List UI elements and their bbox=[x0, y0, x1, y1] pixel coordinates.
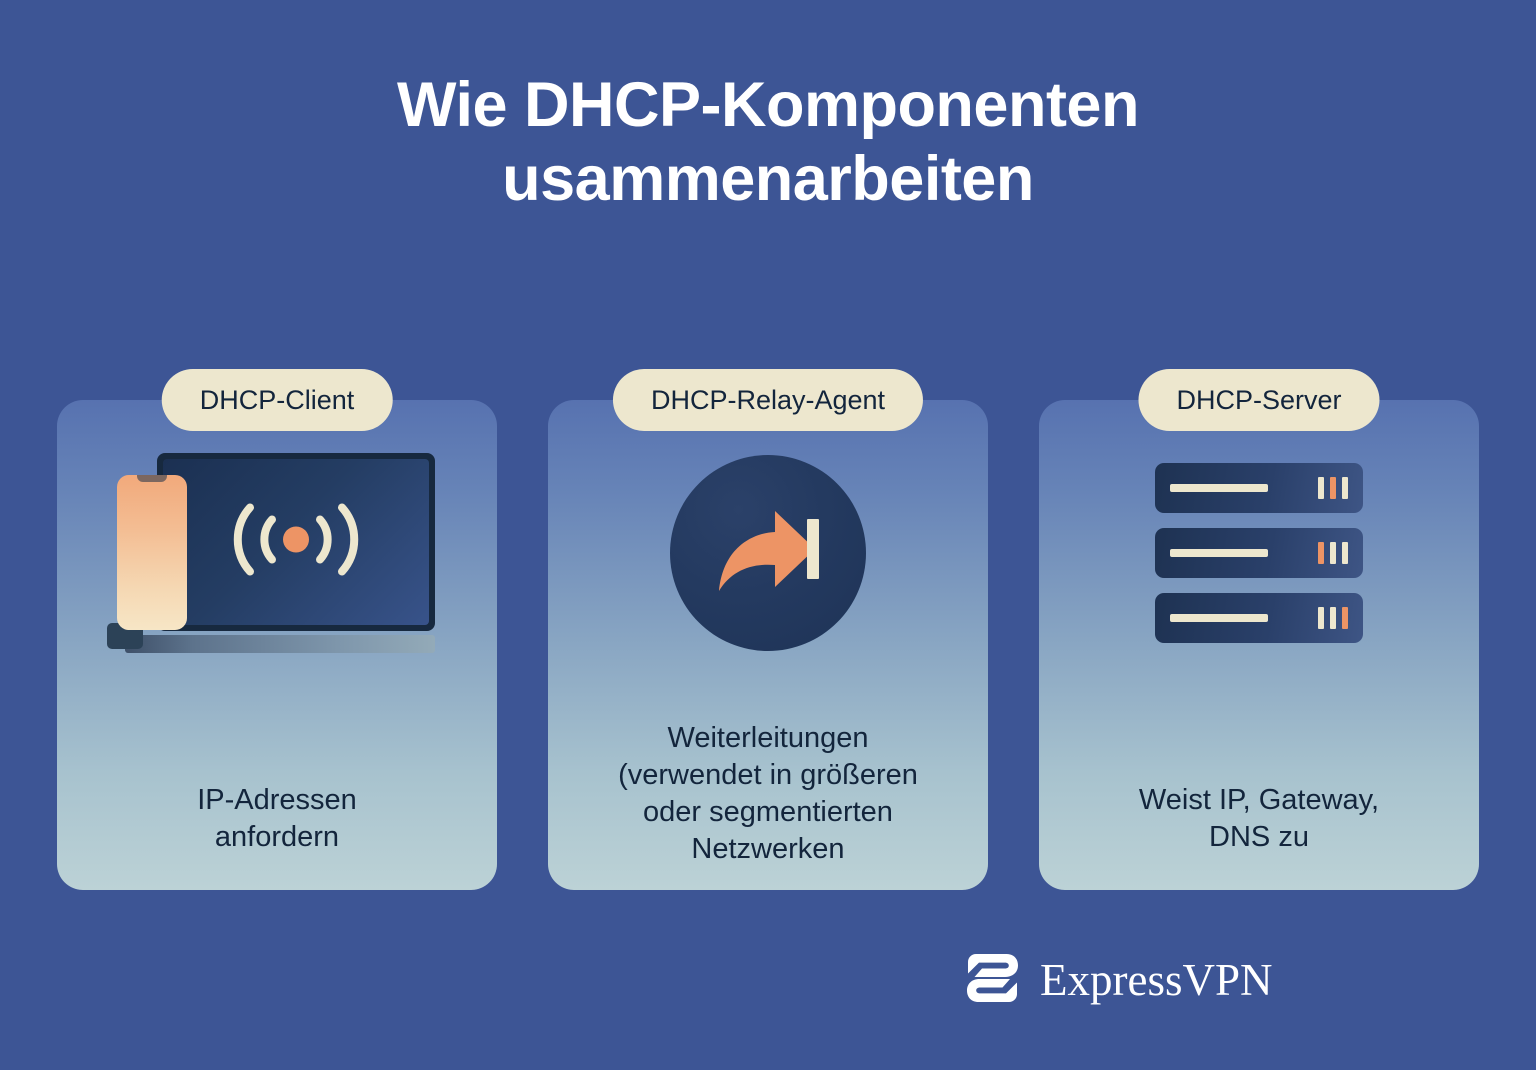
server-label-bar bbox=[1170, 484, 1268, 492]
card-dhcp-server: DHCP-Server bbox=[1039, 400, 1479, 890]
card-dhcp-client: DHCP-Client bbox=[57, 400, 497, 890]
phone-notch bbox=[137, 475, 167, 482]
server-led bbox=[1318, 477, 1324, 499]
expressvpn-e-mark bbox=[962, 947, 1024, 1014]
server-led bbox=[1342, 542, 1348, 564]
card-pill-dhcp-relay-agent: DHCP-Relay-Agent bbox=[613, 369, 923, 431]
illustration-dhcp-client bbox=[57, 400, 497, 700]
laptop-base bbox=[125, 635, 435, 653]
page-title-line-1: Wie DHCP-Komponenten bbox=[0, 68, 1536, 142]
card-caption-dhcp-server: Weist IP, Gateway, DNS zu bbox=[1121, 782, 1397, 856]
wifi-signal-icon bbox=[226, 490, 366, 595]
expressvpn-logo: ExpressVPN bbox=[962, 947, 1273, 1014]
page-title: Wie DHCP-Komponenten usammenarbeiten bbox=[0, 68, 1536, 217]
server-led-active bbox=[1318, 542, 1324, 564]
expressvpn-wordmark: ExpressVPN bbox=[1040, 958, 1273, 1003]
server-rack-illustration bbox=[1155, 463, 1363, 643]
illustration-dhcp-server bbox=[1039, 400, 1479, 700]
server-unit bbox=[1155, 528, 1363, 578]
server-label-bar bbox=[1170, 549, 1268, 557]
card-pill-dhcp-server: DHCP-Server bbox=[1138, 369, 1379, 431]
server-label-bar bbox=[1170, 614, 1268, 622]
server-led-active bbox=[1342, 607, 1348, 629]
server-led bbox=[1318, 607, 1324, 629]
card-dhcp-relay-agent: DHCP-Relay-Agent Weiterleitungen (verwen… bbox=[548, 400, 988, 890]
server-led bbox=[1330, 607, 1336, 629]
server-led-active bbox=[1330, 477, 1336, 499]
illustration-dhcp-relay-agent bbox=[548, 400, 988, 700]
laptop-screen bbox=[163, 459, 429, 625]
forward-arrow-circle-icon bbox=[670, 455, 866, 651]
laptop-phone-wifi-illustration bbox=[107, 449, 447, 669]
server-led bbox=[1330, 542, 1336, 564]
server-led bbox=[1342, 477, 1348, 499]
component-cards-row: DHCP-Client bbox=[57, 400, 1479, 890]
card-caption-dhcp-client: IP-Adressen anfordern bbox=[179, 782, 375, 856]
server-unit bbox=[1155, 593, 1363, 643]
server-led-group bbox=[1318, 607, 1348, 629]
card-caption-dhcp-relay-agent: Weiterleitungen (verwendet in größeren o… bbox=[600, 720, 936, 868]
server-led-group bbox=[1318, 477, 1348, 499]
laptop-icon bbox=[157, 453, 435, 631]
server-led-group bbox=[1318, 542, 1348, 564]
smartphone-icon bbox=[117, 475, 187, 630]
page-title-line-2: usammenarbeiten bbox=[0, 142, 1536, 216]
card-pill-dhcp-client: DHCP-Client bbox=[162, 369, 393, 431]
server-unit bbox=[1155, 463, 1363, 513]
